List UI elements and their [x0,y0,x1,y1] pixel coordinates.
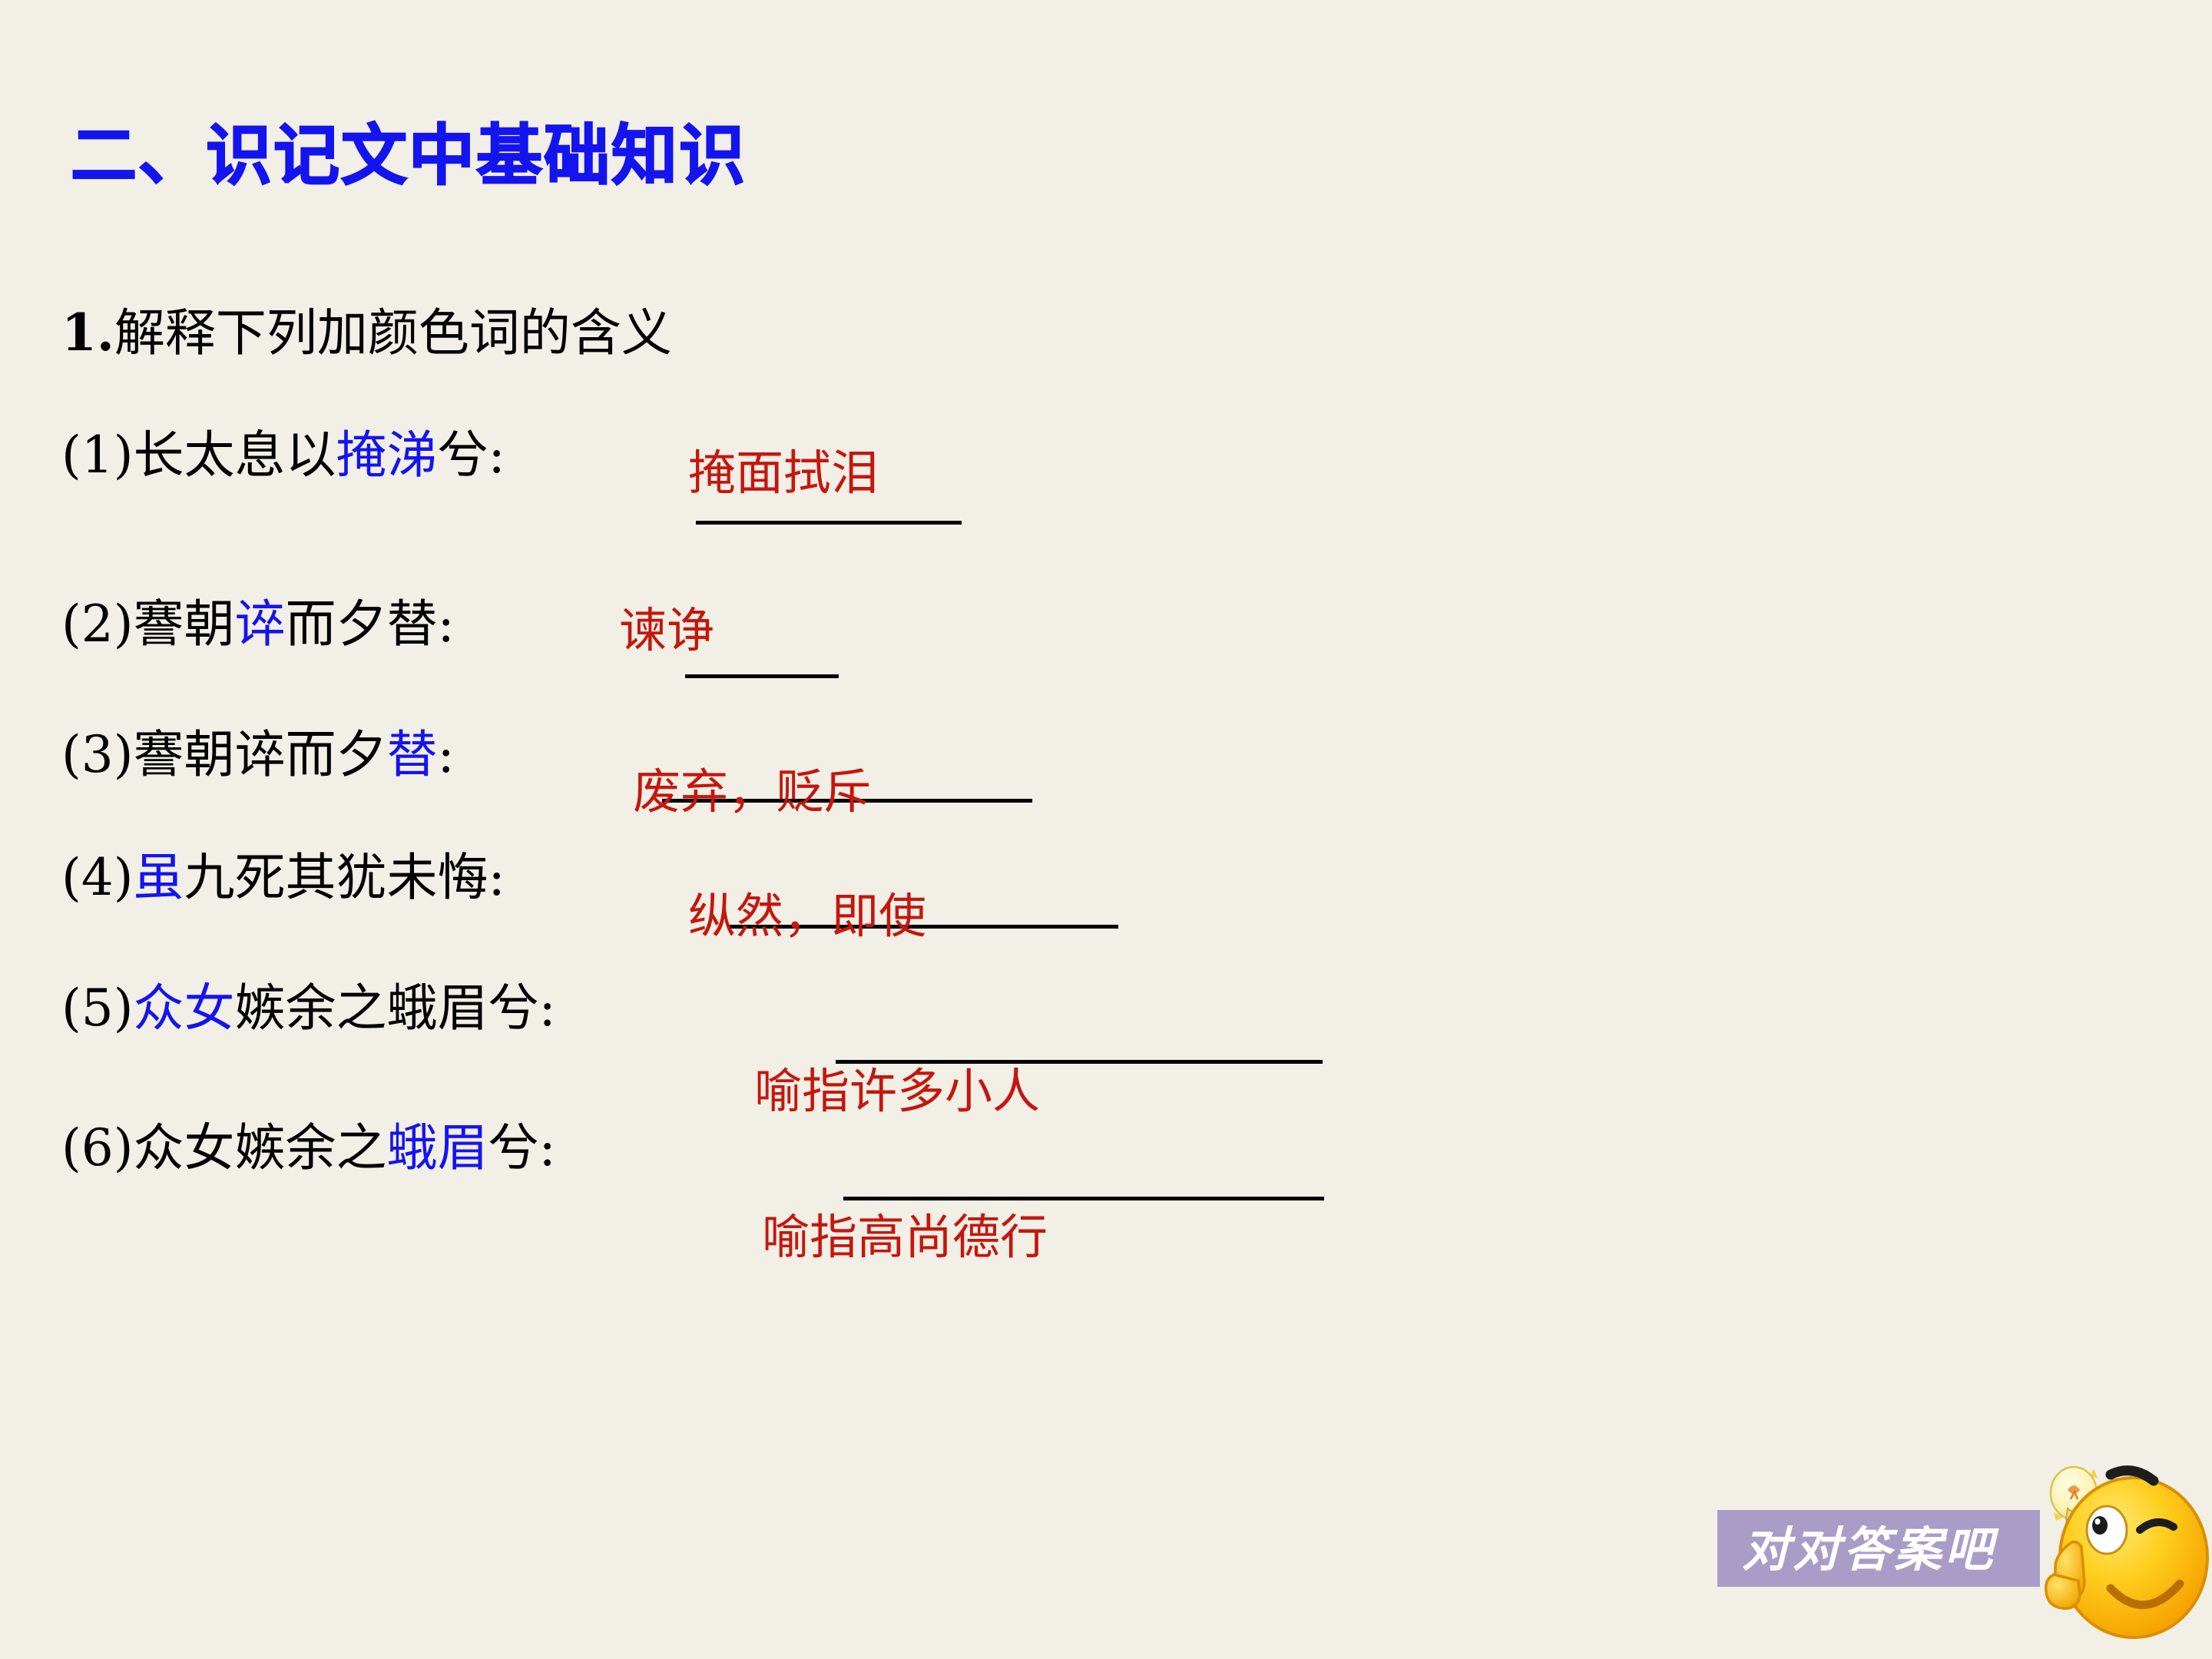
answer-blank-line [843,1197,1324,1200]
item-label: (4) [61,848,134,907]
item-label: (1) [61,426,134,485]
item-highlight-word: 替 [387,725,438,784]
item-colon: : [488,426,505,485]
item-label: (5) [61,979,134,1038]
answer-text: 谏诤 [619,607,714,654]
item-colon: : [438,725,455,784]
list-item: (2)謇朝谇而夕替: [61,599,455,650]
item-text-after: 九死其犹未悔 [184,848,488,907]
pointing-hand-icon [2046,1541,2085,1608]
item-text-after: 兮 [438,426,488,485]
item-label: (2) [61,594,134,654]
answer-blank-line [696,521,962,525]
list-item: (4)虽九死其犹未悔: [61,853,505,903]
item-label: (6) [61,1118,134,1177]
item-text-after: 而夕替 [286,594,438,654]
question-heading: 1.解释下列加颜色词的含义 [61,307,672,359]
answer-text: 喻指许多小人 [754,1068,1040,1115]
item-highlight-word: 蛾眉 [387,1118,488,1177]
item-colon: : [539,1118,556,1177]
item-text-before: 长太息以 [134,426,336,485]
item-text-before: 謇朝谇而夕 [134,725,387,784]
list-item: (1)长太息以掩涕兮: [61,430,505,481]
item-label: (3) [61,725,134,784]
list-item: (5)众女嫉余之蛾眉兮: [61,983,556,1034]
item-highlight-word: 掩涕 [336,426,438,485]
item-text-after: 兮 [488,1118,539,1177]
list-item: (3)謇朝谇而夕替: [61,730,455,780]
question-number: 1. [61,303,114,363]
winking-smiley-icon [2020,1459,2212,1651]
item-colon: : [488,848,505,907]
answer-text: 纵然，即使 [688,892,926,940]
list-item: (6)众女嫉余之蛾眉兮: [61,1123,556,1174]
answer-text: 掩面拭泪 [688,449,879,497]
item-colon: : [438,594,455,654]
answer-text: 喻指高尚德行 [762,1214,1048,1261]
question-text: 解释下列加颜色词的含义 [114,303,672,363]
answer-text: 废弃，贬斥 [633,768,871,816]
item-text-before: 众女嫉余之 [134,1118,387,1177]
item-colon: : [539,979,556,1038]
item-text-before: 謇朝 [134,594,235,654]
item-highlight-word: 虽 [134,848,184,907]
page-title: 二、识记文中基础知识 [71,123,747,189]
item-text-after: 嫉余之蛾眉兮 [235,979,539,1038]
check-answer-label: 对对答案吧 [1742,1518,1995,1582]
item-highlight-word: 谇 [235,594,286,654]
slide-canvas: 二、识记文中基础知识 1.解释下列加颜色词的含义 (1)长太息以掩涕兮: 掩面拭… [0,0,2212,1659]
answer-blank-line [685,674,839,678]
item-highlight-word: 众女 [134,979,235,1038]
